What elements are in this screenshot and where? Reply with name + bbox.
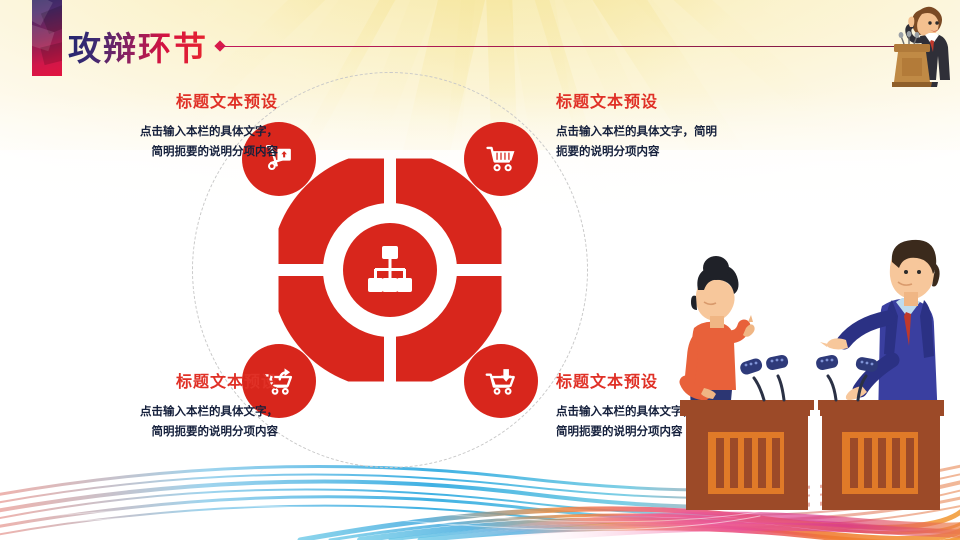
hub-diagram [240, 120, 540, 420]
satellite-node-top-right[interactable] [464, 122, 538, 196]
podium-speaker-icon [876, 0, 954, 88]
block-heading: 标题文本预设 [18, 368, 278, 392]
block-line: 简明扼要的说明分项内容 [18, 141, 278, 161]
block-heading: 标题文本预设 [556, 88, 816, 112]
satellite-node-bottom-right[interactable] [464, 344, 538, 418]
cart-add-icon [482, 362, 520, 400]
block-line: 点击输入本栏的具体文字， [18, 121, 278, 141]
shopping-cart-icon [482, 140, 520, 178]
slide-canvas: 攻辩环节 [0, 0, 960, 540]
text-block-top-left: 标题文本预设 点击输入本栏的具体文字， 简明扼要的说明分项内容 [18, 88, 278, 161]
block-heading: 标题文本预设 [18, 88, 278, 112]
block-line: 点击输入本栏的具体文字， [18, 401, 278, 421]
block-line: 扼要的说明分项内容 [556, 141, 816, 161]
block-line: 简明扼要的说明分项内容 [18, 421, 278, 441]
text-block-bottom-left: 标题文本预设 点击输入本栏的具体文字， 简明扼要的说明分项内容 [18, 368, 278, 441]
title-rule [220, 46, 908, 47]
block-line: 点击输入本栏的具体文字，简明 [556, 121, 816, 141]
page-title: 攻辩环节 [68, 22, 208, 70]
title-accent-bar [32, 0, 62, 76]
org-chart-icon [344, 224, 436, 316]
text-block-top-right: 标题文本预设 点击输入本栏的具体文字，简明 扼要的说明分项内容 [556, 88, 816, 161]
two-debaters-illustration [660, 232, 960, 522]
